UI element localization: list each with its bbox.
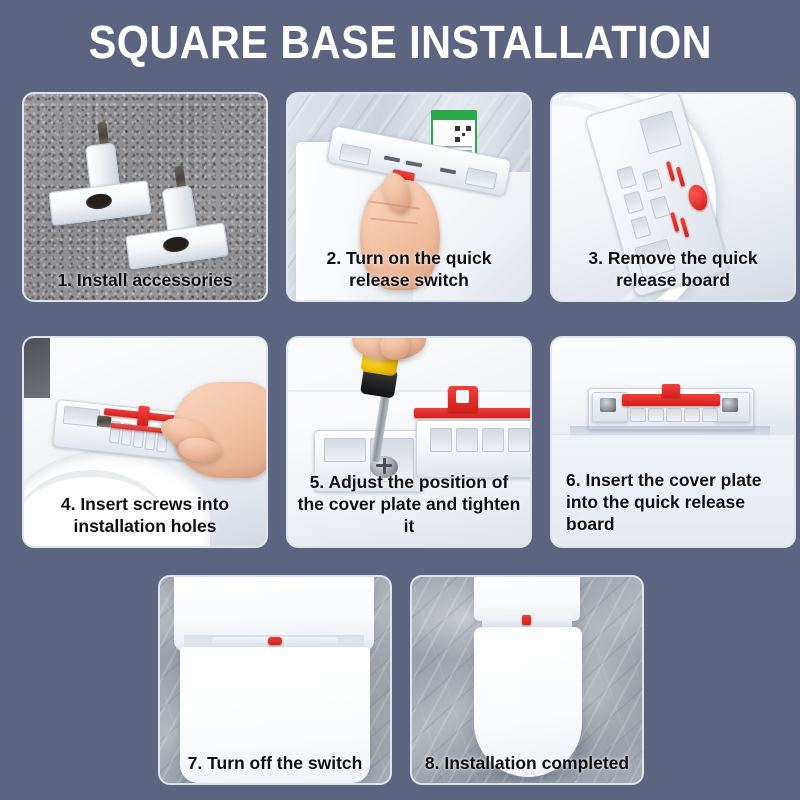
red-slider-handle[interactable] <box>137 406 150 427</box>
step-4-caption: 4. Insert screws into installation holes <box>24 494 266 538</box>
qr-code-icon <box>455 126 471 142</box>
comb-slot-2 <box>648 408 664 422</box>
board-cell-1 <box>430 428 452 452</box>
step-card-8[interactable]: 8. Installation completed <box>410 575 644 785</box>
comb-slot-3 <box>666 408 682 422</box>
step-7-caption: 7. Turn off the switch <box>160 753 390 775</box>
qr-label-header <box>433 112 475 120</box>
board-cell-3 <box>482 428 504 452</box>
red-lever-notch <box>456 390 469 403</box>
page-header: SQUARE BASE INSTALLATION <box>0 0 800 84</box>
step-8-caption: 8. Installation completed <box>412 753 642 775</box>
page-title: SQUARE BASE INSTALLATION <box>88 19 711 65</box>
step-6-caption: 6. Insert the cover plate into the quick… <box>552 470 794 536</box>
comb-slot-1 <box>630 408 646 422</box>
red-switch-indicator <box>522 615 531 625</box>
step-card-7[interactable]: 7. Turn off the switch <box>158 575 392 785</box>
mount-window-left <box>63 406 101 428</box>
step-5-caption: 5. Adjust the position of the cover plat… <box>288 472 530 538</box>
red-lock-tab <box>662 384 680 397</box>
screw-right <box>722 398 738 412</box>
step-1-caption: 1. Install accessories <box>24 270 266 292</box>
base-shadow <box>570 426 770 438</box>
step-card-3[interactable]: 3. Remove the quick release board <box>550 92 796 302</box>
step-card-4[interactable]: 4. Insert screws into installation holes <box>22 336 268 548</box>
screw-head-left <box>97 415 112 427</box>
step-card-1[interactable]: 1. Install accessories <box>22 92 268 302</box>
step-card-2[interactable]: 2. Turn on the quick release switch <box>286 92 532 302</box>
red-switch-indicator <box>268 637 282 645</box>
comb-slot-4 <box>684 408 700 422</box>
board-cell-4 <box>508 428 530 452</box>
step-card-6[interactable]: 6. Insert the cover plate into the quick… <box>550 336 796 548</box>
cover-plate-window <box>324 438 366 462</box>
board-cell-2 <box>456 428 478 452</box>
step-card-5[interactable]: 5. Adjust the position of the cover plat… <box>286 336 532 548</box>
step-2-caption: 2. Turn on the quick release switch <box>288 248 530 292</box>
screw-left <box>600 398 616 412</box>
step-3-caption: 3. Remove the quick release board <box>552 248 794 292</box>
lid-highlight <box>486 639 522 749</box>
dark-wall-corner <box>24 338 50 398</box>
comb-slot-5 <box>702 408 718 422</box>
